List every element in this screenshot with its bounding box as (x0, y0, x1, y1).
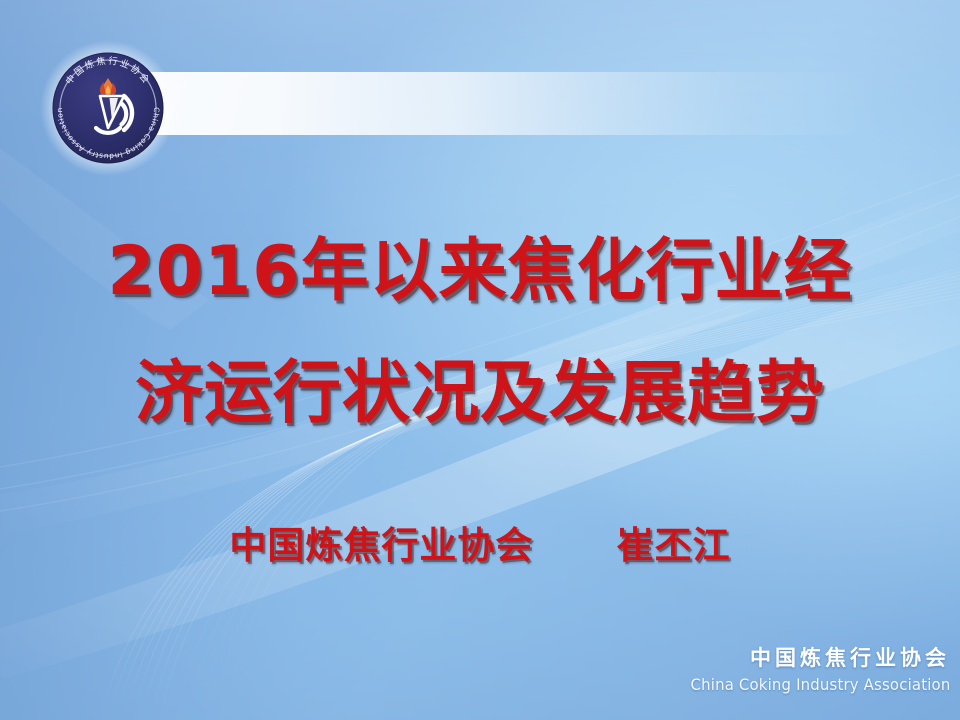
presentation-title-slide: 中国炼焦行业协会 China Coking Industry Associati… (0, 0, 960, 720)
header-banner-strip (100, 72, 880, 135)
association-logo: 中国炼焦行业协会 China Coking Industry Associati… (38, 38, 178, 178)
title-line-1: 2016年以来焦化行业经 (0, 238, 960, 306)
footer-organization-name-en: China Coking Industry Association (690, 675, 950, 696)
title-line-2: 济运行状况及发展趋势 (0, 360, 960, 428)
slide-subtitle-byline: 中国炼焦行业协会 崔丕江 (0, 515, 960, 569)
footer-brand-lockup: 中国炼焦行业协会 China Coking Industry Associati… (671, 645, 950, 696)
footer-organization-name-cn: 中国炼焦行业协会 (671, 645, 950, 671)
slide-title: 2016年以来焦化行业经 济运行状况及发展趋势 (0, 238, 960, 428)
